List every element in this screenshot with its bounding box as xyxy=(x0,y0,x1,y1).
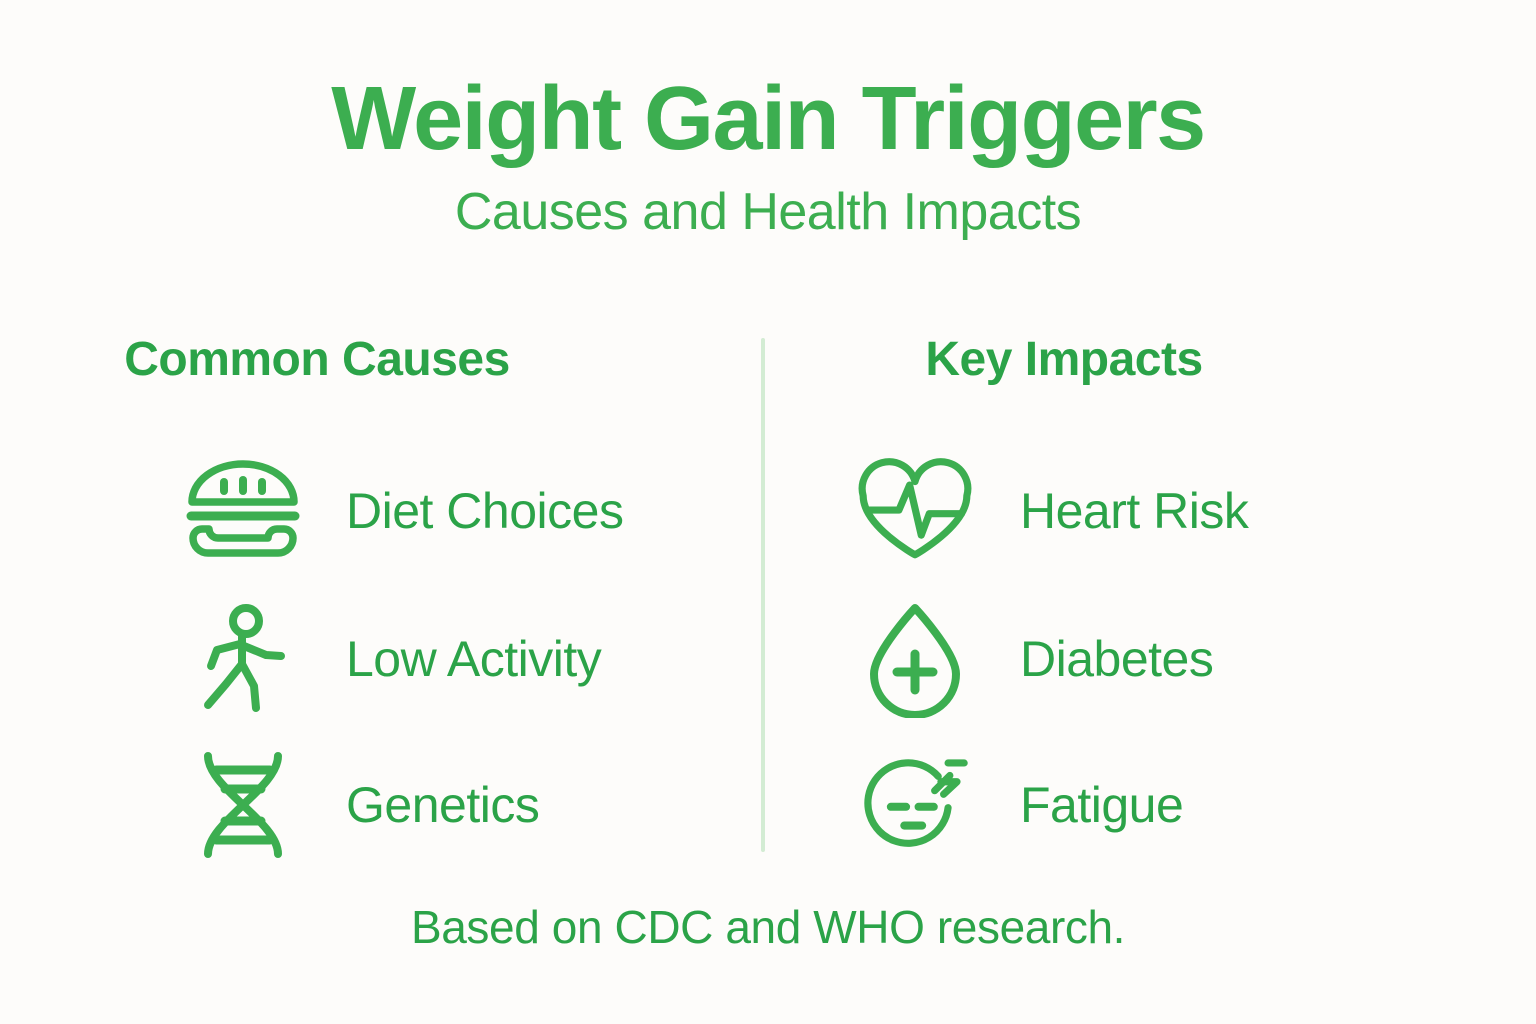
list-item-label: Low Activity xyxy=(346,634,601,684)
column-common-causes: Common Causes xyxy=(0,336,768,856)
column-heading-common-causes: Common Causes xyxy=(6,336,768,390)
list-item-diet-choices[interactable]: Diet Choices xyxy=(6,436,768,586)
list-item-diabetes[interactable]: Diabetes xyxy=(854,586,1536,732)
walking-person-icon xyxy=(184,600,302,718)
impacts-list: Heart Risk Diabetes xyxy=(854,436,1536,878)
footer-note: Based on CDC and WHO research. xyxy=(0,900,1536,954)
list-item-label: Diabetes xyxy=(1020,634,1213,684)
column-key-impacts: Key Impacts Heart Risk xyxy=(768,336,1536,856)
dna-helix-icon xyxy=(184,746,302,864)
columns-container: Common Causes xyxy=(0,336,1536,856)
list-item-label: Genetics xyxy=(346,780,539,830)
causes-list: Diet Choices xyxy=(6,436,768,878)
heart-pulse-icon xyxy=(856,452,974,570)
list-item-genetics[interactable]: Genetics xyxy=(6,732,768,878)
list-item-label: Fatigue xyxy=(1020,780,1183,830)
header: Weight Gain Triggers Causes and Health I… xyxy=(0,74,1536,238)
column-heading-key-impacts: Key Impacts xyxy=(854,336,1536,390)
list-item-label: Heart Risk xyxy=(1020,486,1248,536)
list-item-label: Diet Choices xyxy=(346,486,623,536)
list-item-heart-risk[interactable]: Heart Risk xyxy=(854,436,1536,586)
tired-face-icon xyxy=(856,746,974,864)
page-subtitle: Causes and Health Impacts xyxy=(0,186,1536,238)
blood-drop-plus-icon xyxy=(856,600,974,718)
burger-icon xyxy=(184,452,302,570)
infographic-poster: Weight Gain Triggers Causes and Health I… xyxy=(0,0,1536,1024)
list-item-fatigue[interactable]: Fatigue xyxy=(854,732,1536,878)
list-item-low-activity[interactable]: Low Activity xyxy=(6,586,768,732)
page-title: Weight Gain Triggers xyxy=(0,74,1536,164)
